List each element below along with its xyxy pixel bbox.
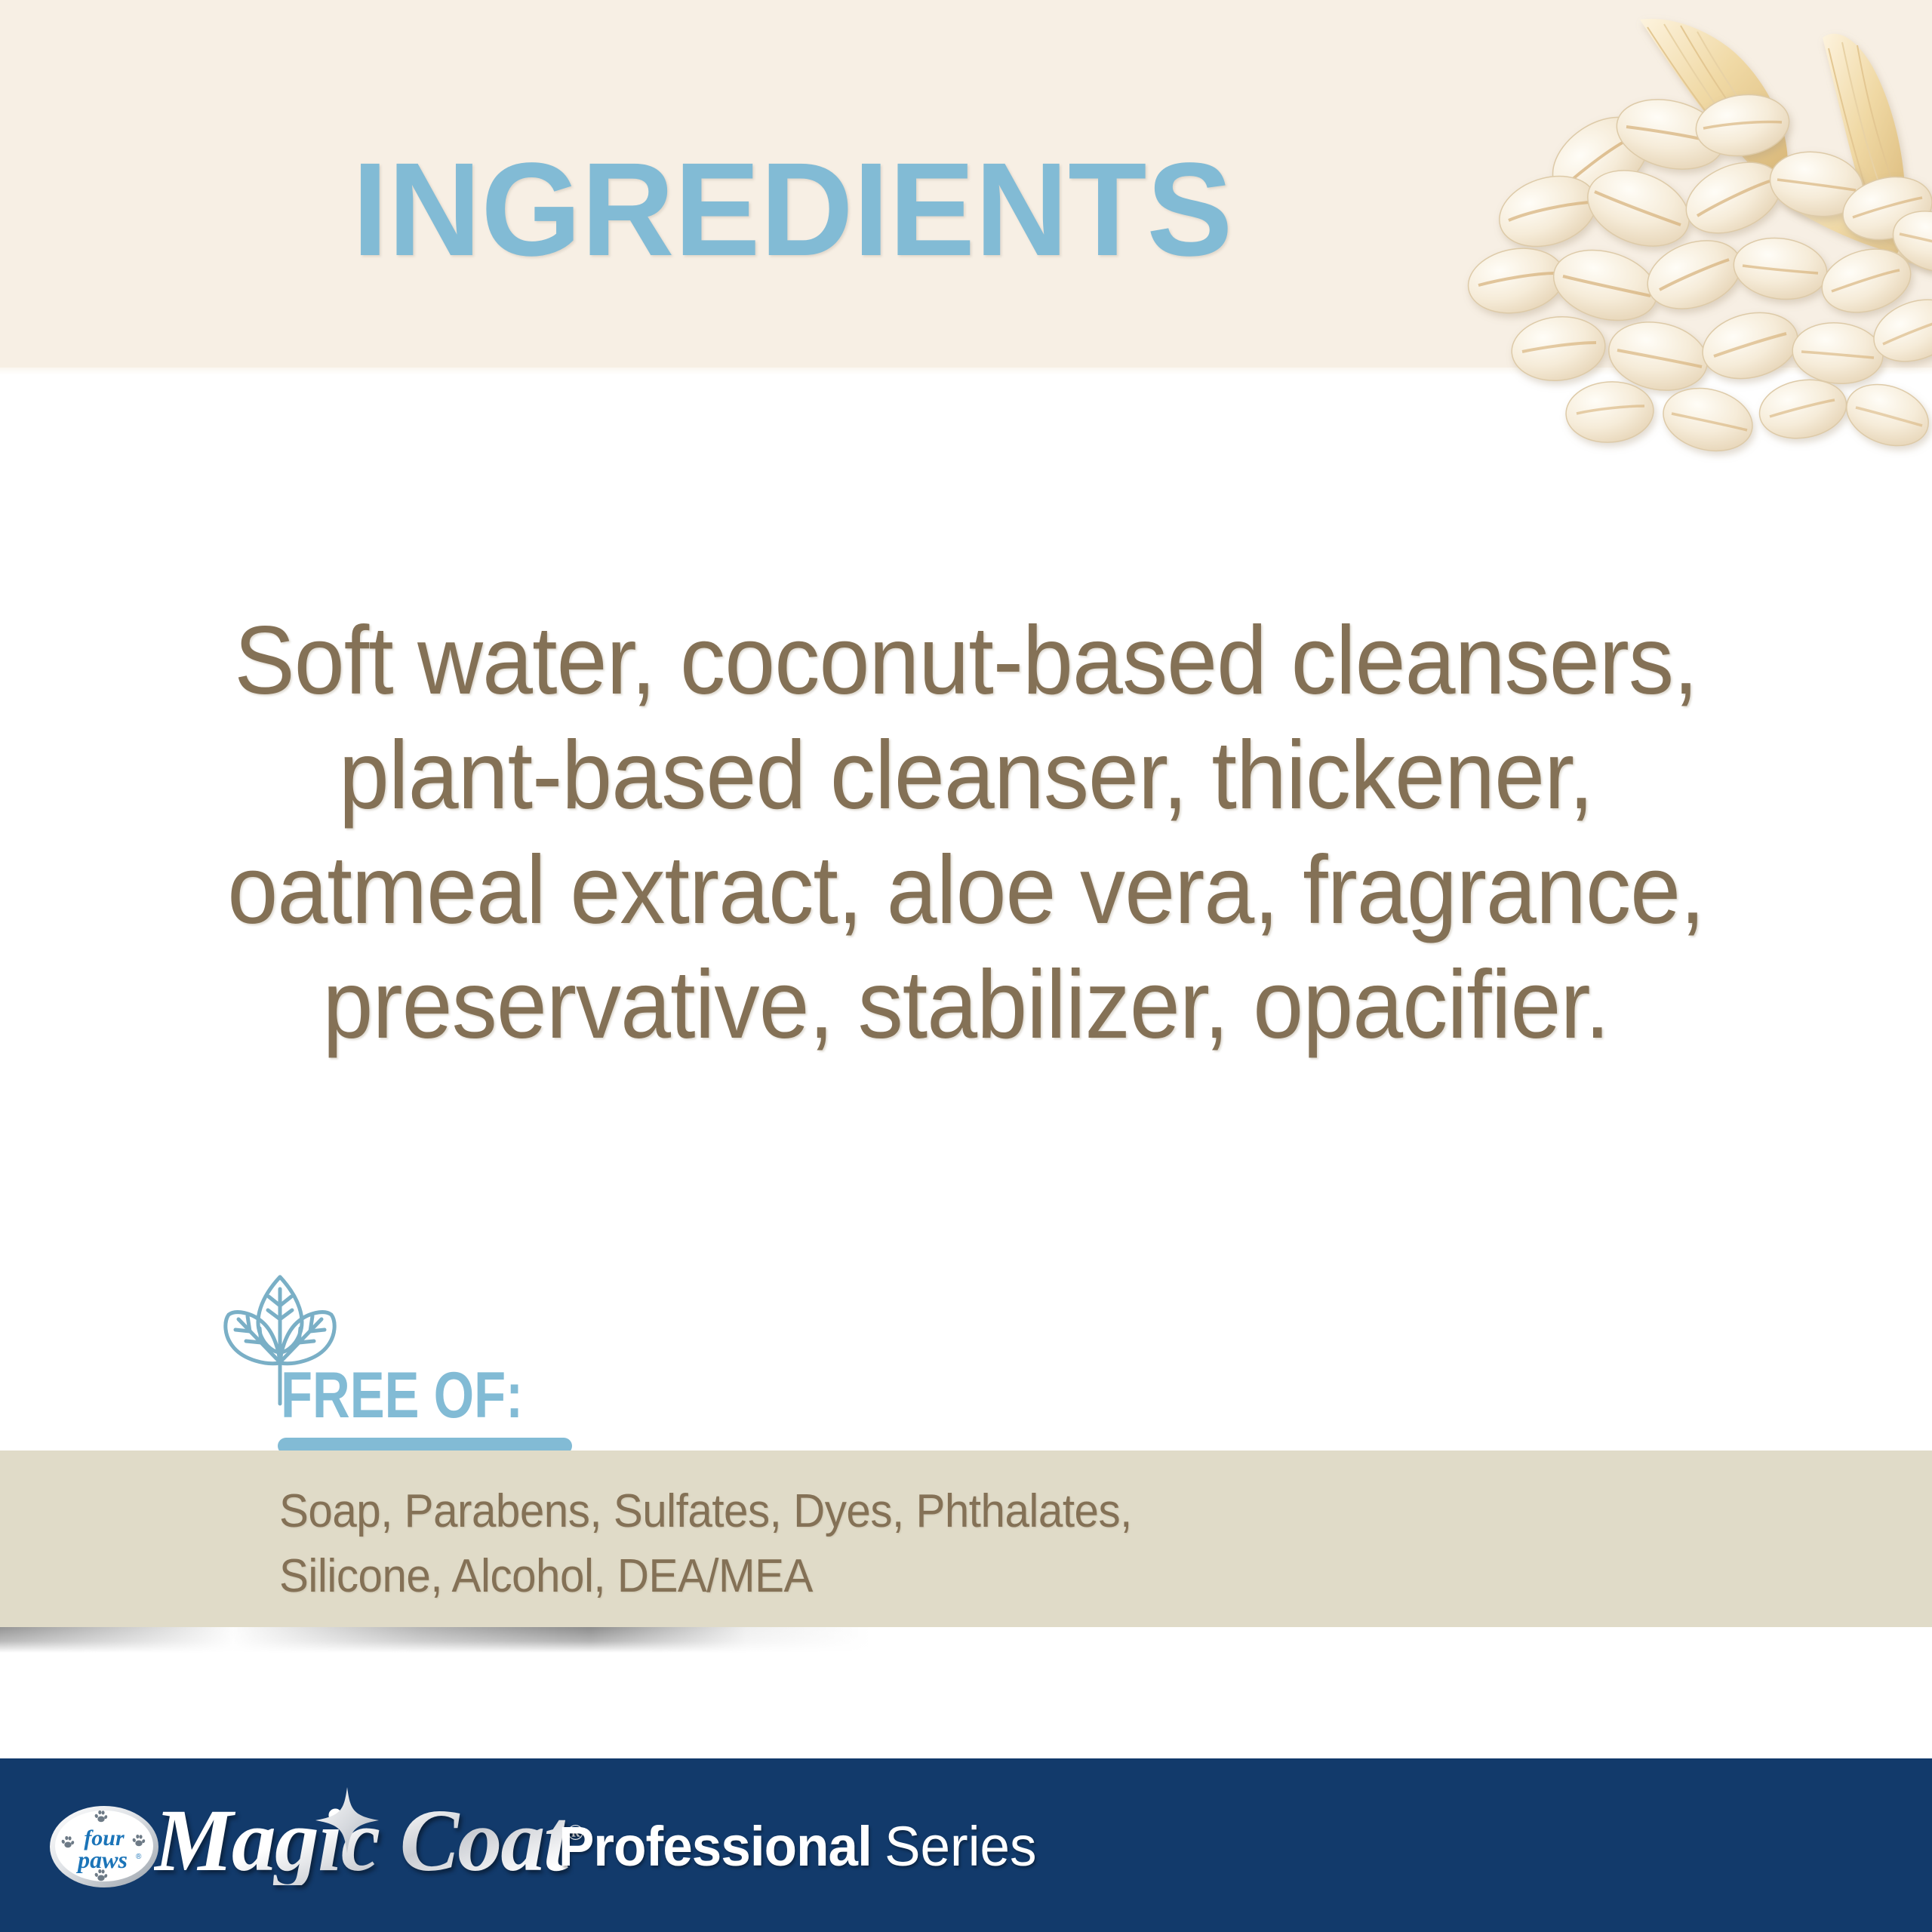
- series-label: ProfessionalSeries: [558, 1819, 1037, 1875]
- band-shadow-fade: [0, 1627, 1555, 1653]
- free-of-list-line: Silicone, Alcohol, DEA/MEA: [279, 1544, 1627, 1609]
- sparkle-star-icon: [312, 1786, 382, 1855]
- ingredients-text: Soft water, coconut-based cleansers, pla…: [179, 604, 1754, 1063]
- brand-lockup: four paws ® Magic Coat® ProfessionalSeri…: [48, 1790, 1057, 1903]
- series-light-word: Series: [884, 1815, 1036, 1878]
- free-of-list-line: Soap, Parabens, Sulfates, Dyes, Phthalat…: [279, 1479, 1627, 1544]
- four-paws-logo: four paws ®: [48, 1804, 160, 1889]
- free-of-list: Soap, Parabens, Sulfates, Dyes, Phthalat…: [279, 1479, 1627, 1609]
- ingredients-panel: INGREDIENTS: [0, 0, 1932, 1932]
- page-title: INGREDIENTS: [24, 143, 1561, 276]
- header-band-edge: [0, 368, 1932, 375]
- four-paws-line2: paws: [75, 1846, 128, 1873]
- magic-coat-wordmark: Magic Coat®: [154, 1790, 531, 1903]
- series-bold-word: Professional: [558, 1815, 872, 1878]
- free-of-heading: FREE OF:: [281, 1363, 523, 1428]
- four-paws-trademark: ®: [136, 1853, 142, 1861]
